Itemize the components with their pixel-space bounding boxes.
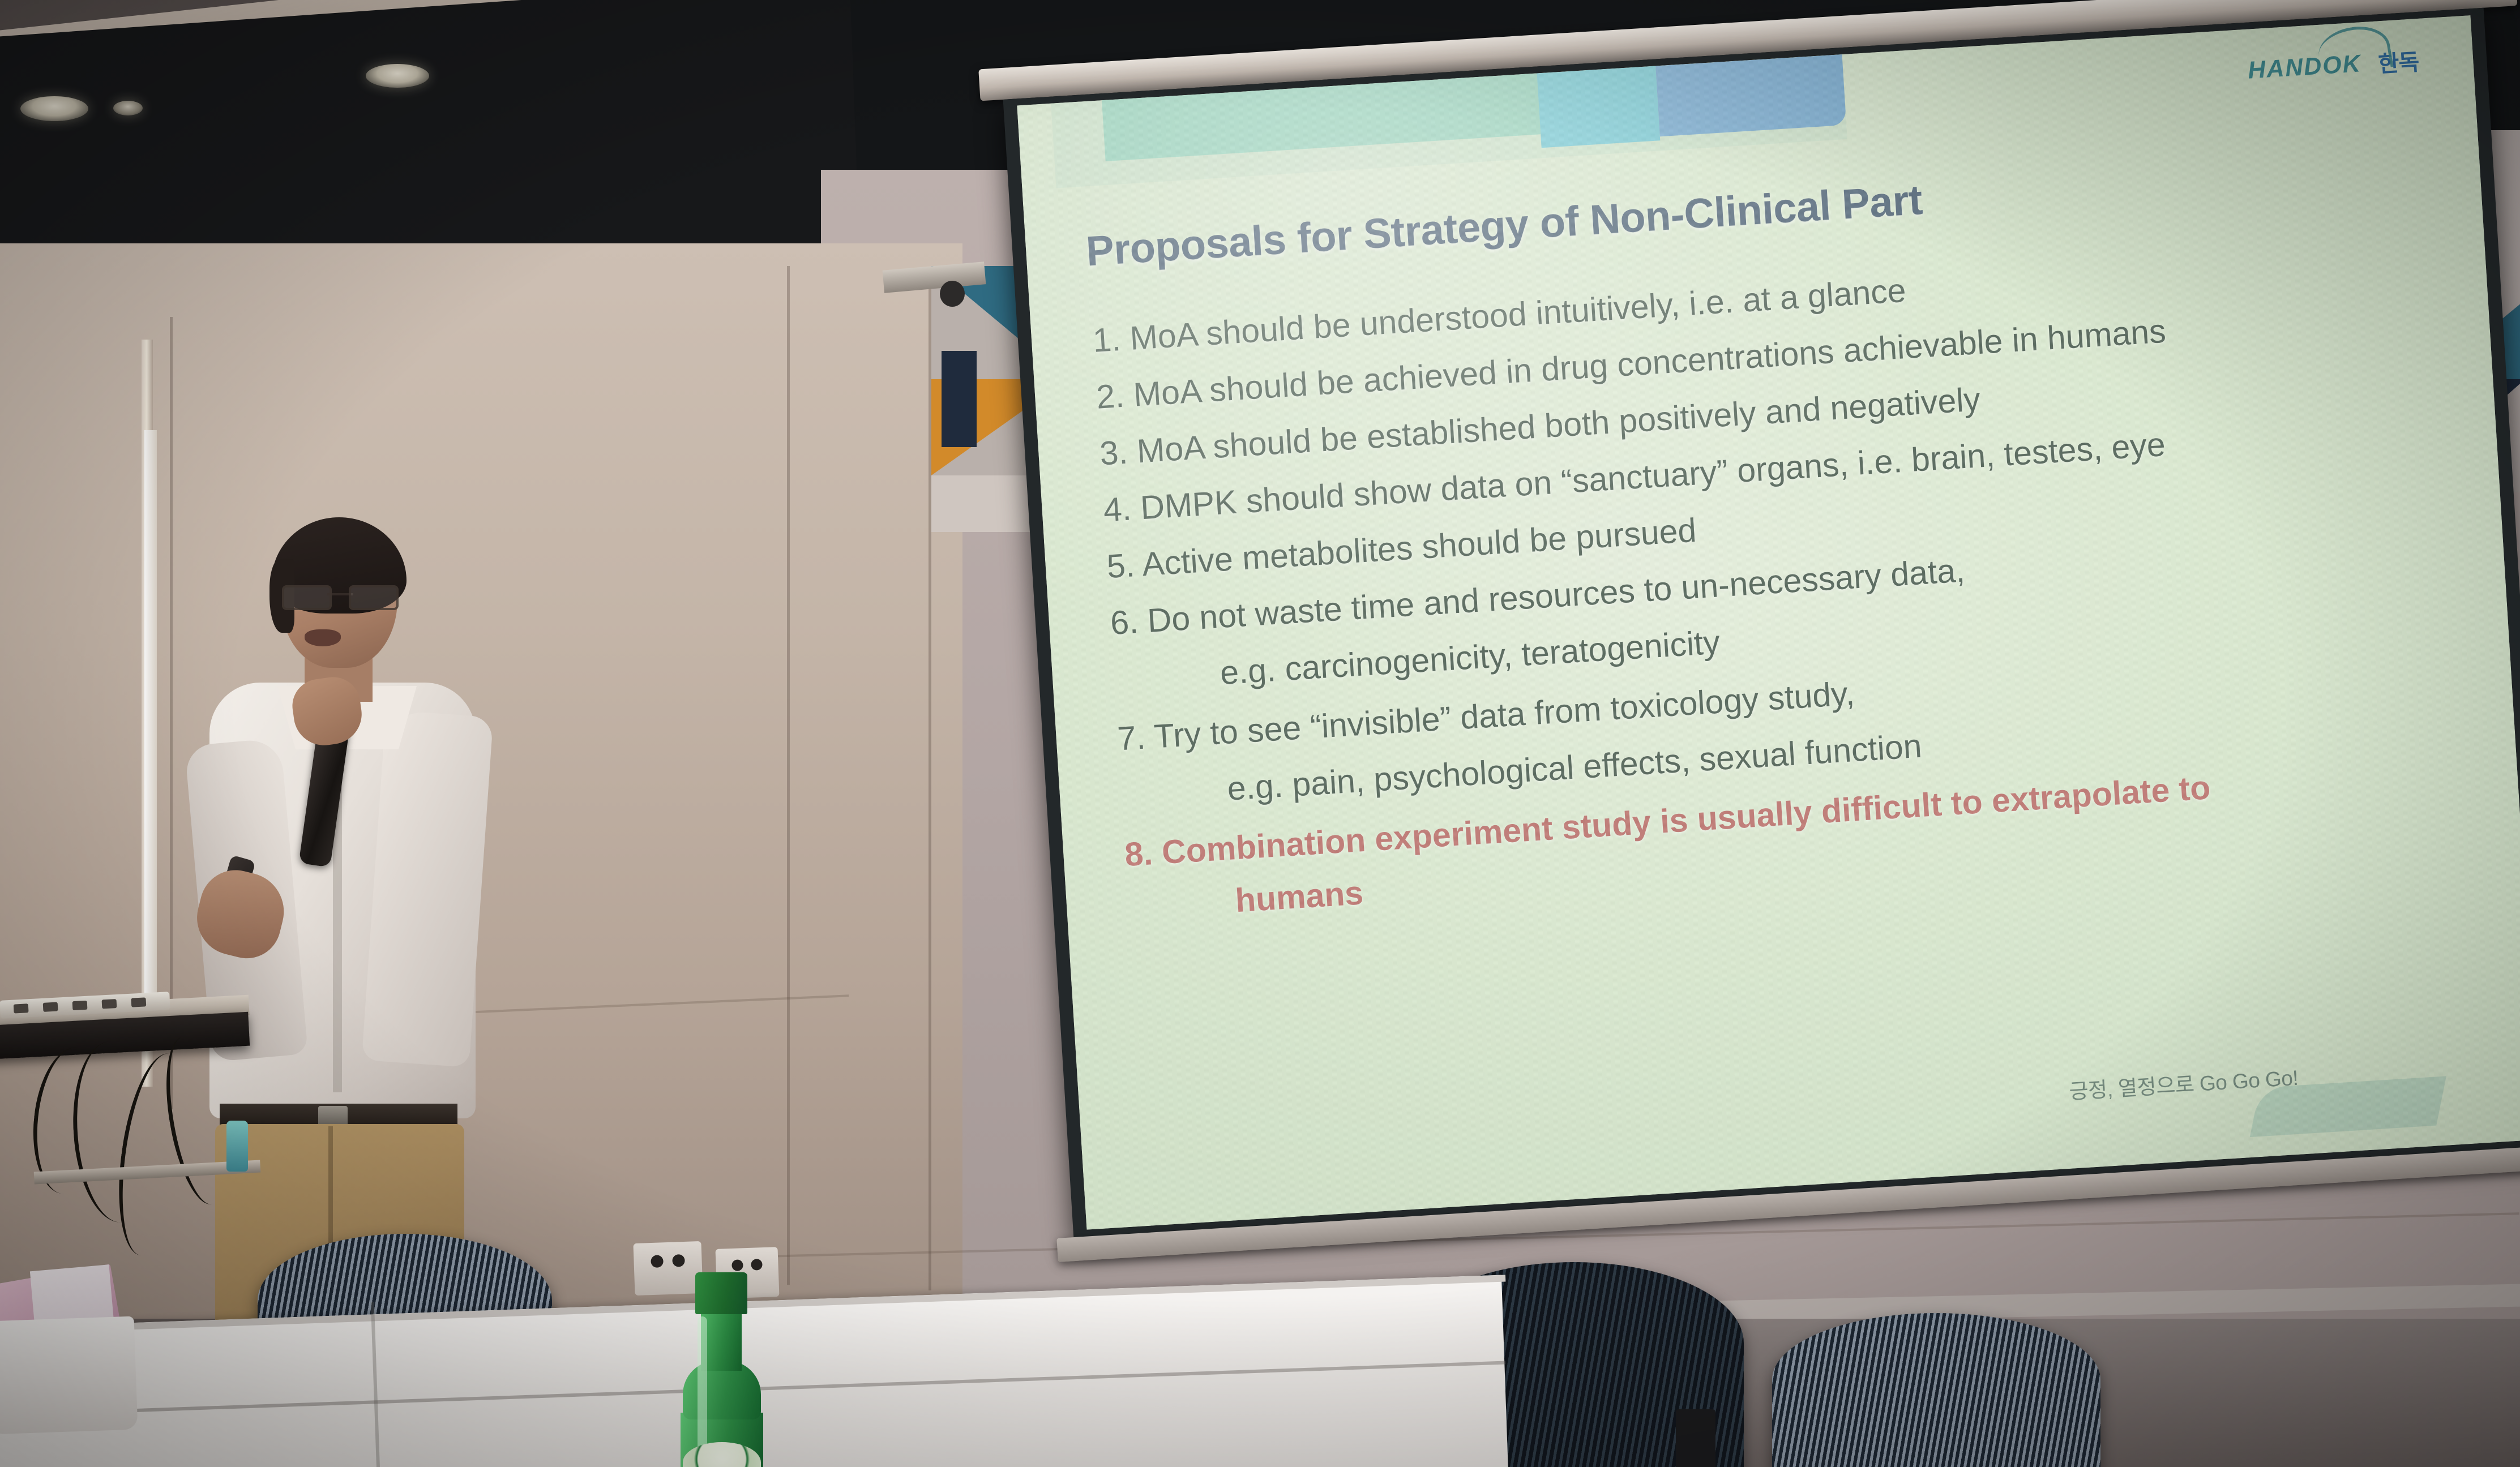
- outlet-hole: [672, 1254, 685, 1267]
- sparkling-water-bottle: [668, 1272, 776, 1467]
- slide-band-blue: [1655, 54, 1846, 136]
- eyeglass-lens-right: [349, 585, 399, 610]
- presentation-slide: HANDOK 한독 Proposals for Strategy of Non-…: [1017, 15, 2520, 1229]
- slide-bullet-list: 1. MoA should be understood intuitively,…: [1092, 238, 2514, 943]
- eyeglasses-icon: [282, 585, 399, 606]
- outlet-hole: [731, 1259, 743, 1271]
- bottle-cap: [695, 1272, 747, 1314]
- water-bottle-small: [226, 1121, 248, 1172]
- presenter-mouth: [305, 629, 341, 646]
- photo-scene: HANDOK 한독 Proposals for Strategy of Non-…: [0, 0, 2520, 1467]
- slide-band-cyan: [1537, 66, 1661, 148]
- whiteboard-edge: [144, 430, 157, 996]
- desk-caddy: [0, 1316, 138, 1435]
- power-socket: [14, 1003, 29, 1013]
- outlet-hole: [651, 1255, 664, 1268]
- outlet-hole: [751, 1259, 763, 1271]
- power-socket: [131, 997, 146, 1007]
- wall-seam: [170, 317, 173, 1109]
- downlight-fixture: [20, 96, 88, 121]
- chair-back-support: [1676, 1409, 1715, 1467]
- screen-surface: HANDOK 한독 Proposals for Strategy of Non-…: [1017, 15, 2520, 1229]
- handok-logo: HANDOK 한독: [2247, 44, 2420, 87]
- slide-title: Proposals for Strategy of Non-Clinical P…: [1085, 175, 1924, 275]
- projection-screen: HANDOK 한독 Proposals for Strategy of Non-…: [1002, 0, 2520, 1316]
- projector-mount-knob: [940, 281, 965, 307]
- power-socket: [72, 1001, 88, 1010]
- wall-seam: [787, 266, 790, 1285]
- downlight-fixture: [113, 101, 143, 115]
- screen-frame: HANDOK 한독 Proposals for Strategy of Non-…: [1003, 8, 2520, 1241]
- office-chair: [1772, 1313, 2100, 1467]
- power-socket: [43, 1002, 58, 1012]
- downlight-fixture: [366, 64, 429, 88]
- power-socket: [102, 999, 117, 1009]
- eyeglass-lens-left: [282, 585, 332, 610]
